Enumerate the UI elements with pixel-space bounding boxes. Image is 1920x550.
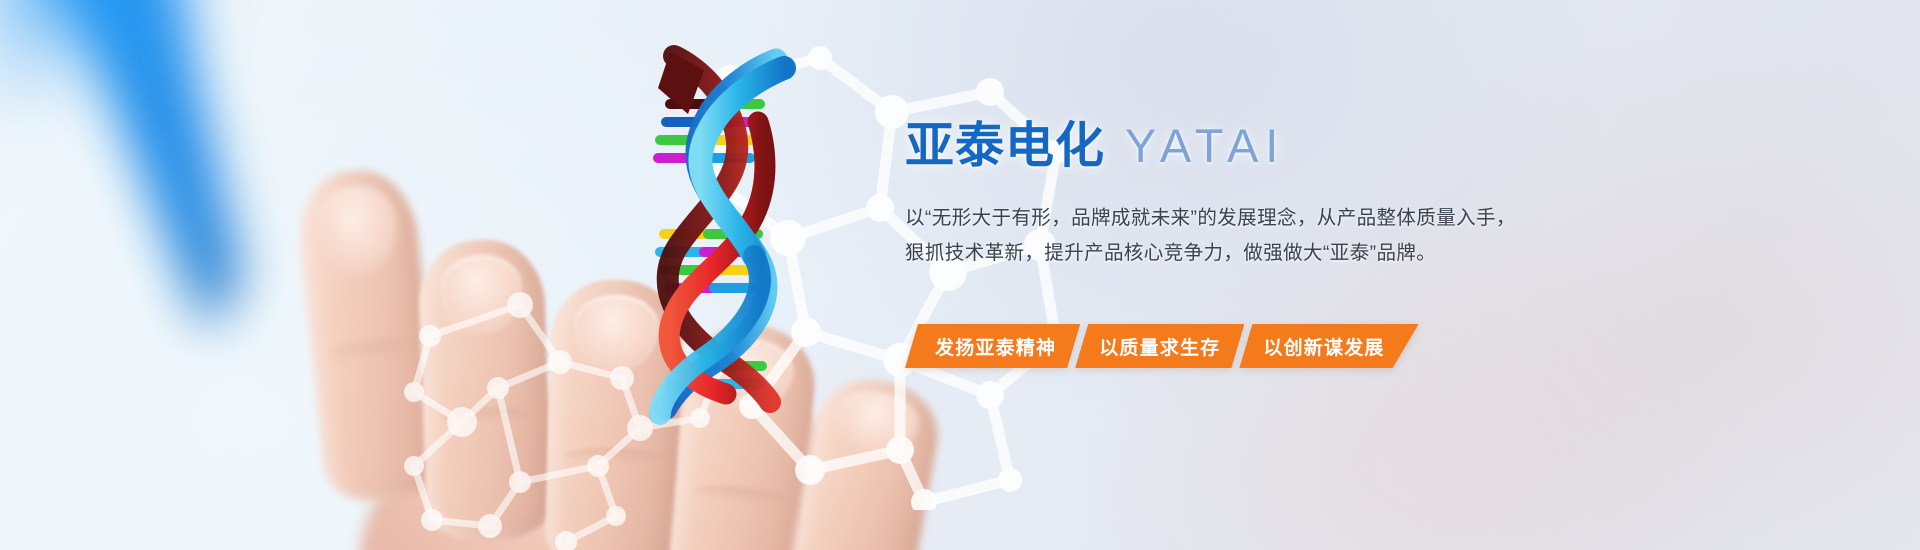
fingernail xyxy=(440,254,523,335)
fingernail xyxy=(316,183,400,276)
finger-2 xyxy=(417,238,553,542)
banner-description: 以“无形大于有形，品牌成就未来”的发展理念，从产品整体质量入手，狠抓技术革新，提… xyxy=(905,201,1533,270)
slogan-tag-2[interactable]: 以质量求生存 xyxy=(1075,324,1244,368)
title-english: YATAI xyxy=(1125,119,1285,172)
slogan-tag-1[interactable]: 发扬亚泰精神 xyxy=(905,324,1080,368)
hero-banner: 亚泰电化YATAI 以“无形大于有形，品牌成就未来”的发展理念，从产品整体质量入… xyxy=(0,0,1920,550)
blue-glow-decoration xyxy=(0,0,190,140)
knuckle xyxy=(440,406,531,425)
fingernail xyxy=(833,387,922,462)
banner-text-block: 亚泰电化YATAI 以“无形大于有形，品牌成就未来”的发展理念，从产品整体质量入… xyxy=(905,118,1585,270)
slogan-tag-list: 发扬亚泰精神 以质量求生存 以创新谋发展 xyxy=(905,324,1419,368)
title-chinese: 亚泰电化 xyxy=(905,119,1105,173)
page-title: 亚泰电化YATAI xyxy=(905,118,1585,175)
knuckle xyxy=(693,483,788,507)
dna-helix-icon xyxy=(608,30,838,430)
knuckle xyxy=(327,337,413,362)
slogan-tag-3[interactable]: 以创新谋发展 xyxy=(1239,324,1418,368)
description-line-1: 以“无形大于有形，品牌成就未来”的发展理念，从产品整体质量入 xyxy=(905,207,1476,229)
knuckle xyxy=(565,447,660,465)
